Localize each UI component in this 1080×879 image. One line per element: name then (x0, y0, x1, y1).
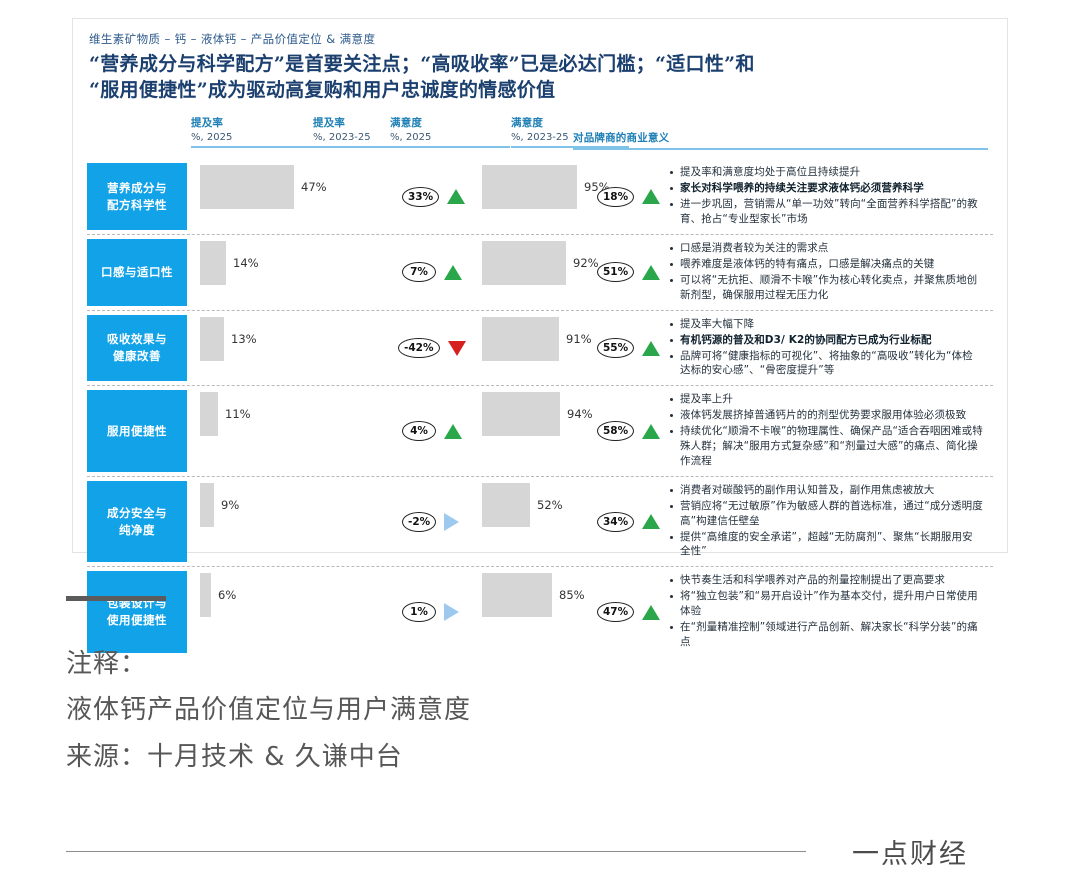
source-text: 来源：十月技术 & 久谦中台 (66, 734, 1016, 780)
slide-card: 维生素矿物质 – 钙 – 液体钙 – 产品价值定位 & 满意度 “营养成分与科学… (72, 18, 1008, 553)
satisfaction-bar (482, 483, 530, 527)
mention-value: 47% (301, 180, 327, 194)
headline-line-2: “服用便捷性”成为驱动高复购和用户忠诚度的情感价值 (89, 77, 993, 103)
mention-delta-badge: -2% (402, 512, 436, 532)
trend-up-icon (642, 341, 660, 356)
list-item: 液体钙发展挤掉普通钙片的的剂型优势要求服用体验必须极致 (669, 408, 983, 423)
mention-bar-group: 13% (200, 317, 257, 361)
column-header-title: 满意度 (390, 115, 510, 130)
insight-list: 消费者对碳酸钙的副作用认知普及，副作用焦虑被放大 营销应将“无过敏原”作为敏感人… (669, 483, 983, 560)
trend-up-icon (642, 424, 660, 439)
trend-up-icon (642, 514, 660, 529)
row-metrics: 11% 4% 94% 58% (187, 386, 657, 476)
table-row[interactable]: 口感与适口性 14% 7% 92% (87, 235, 993, 311)
list-item: 提及率上升 (669, 392, 983, 407)
list-item-strong: 有机钙源的普及和D3/ K2的协同配方已成为行业标配 (680, 334, 932, 346)
satisfaction-delta-badge: 51% (597, 262, 634, 282)
footer-notes: 注释： 液体钙产品价值定位与用户满意度 来源：十月技术 & 久谦中台 (66, 641, 1016, 780)
mention-delta-group: 7% (402, 262, 462, 282)
column-header-business-meaning: 对品牌商的商业意义 (573, 115, 988, 150)
row-label-nutrition: 营养成分与配方科学性 (87, 163, 187, 230)
mention-delta-group: 4% (402, 421, 462, 441)
table-row[interactable]: 服用便捷性 11% 4% 94% (87, 386, 993, 477)
column-header-title: 对品牌商的商业意义 (573, 130, 988, 145)
column-header-underline (390, 146, 510, 148)
row-label-absorption: 吸收效果与健康改善 (87, 315, 187, 382)
satisfaction-delta-group: 55% (597, 338, 660, 358)
slide-page: 维生素矿物质 – 钙 – 液体钙 – 产品价值定位 & 满意度 “营养成分与科学… (0, 0, 1080, 879)
satisfaction-delta-badge: 18% (597, 187, 634, 207)
row-label-convenience: 服用便捷性 (87, 390, 187, 472)
metrics-table: 营养成分与配方科学性 47% 33% 95% (87, 159, 993, 656)
satisfaction-value: 52% (537, 498, 563, 512)
satisfaction-value: 94% (567, 407, 593, 421)
satisfaction-bar-group: 95% (482, 165, 610, 209)
mention-delta-badge: -42% (398, 338, 440, 358)
mention-bar-group: 11% (200, 392, 251, 436)
trend-up-icon (447, 189, 465, 204)
headline-line-1: “营养成分与科学配方”是首要关注点；“高吸收率”已是必达门槛；“适口性”和 (89, 51, 993, 77)
list-item: 提供“高维度的安全承诺”，超越“无防腐剂”、聚焦“长期服用安全性” (669, 530, 983, 560)
mention-bar (200, 165, 294, 209)
list-item: 持续优化“顺滑不卡喉”的物理属性、确保产品“适合吞咽困难或特殊人群；解决“服用方… (669, 424, 983, 469)
note-label: 注释： (66, 641, 1016, 687)
mention-delta-group: 33% (402, 187, 465, 207)
mention-bar-group: 9% (200, 483, 239, 527)
satisfaction-delta-badge: 34% (597, 512, 634, 532)
satisfaction-delta-group: 18% (597, 187, 660, 207)
mention-bar (200, 317, 224, 361)
footer-rule (66, 851, 806, 852)
footer: 注释： 液体钙产品价值定位与用户满意度 来源：十月技术 & 久谦中台 一点财经 (66, 596, 1016, 780)
list-item: 营销应将“无过敏原”作为敏感人群的首选标准，通过“成分透明度高”构建信任壁垒 (669, 499, 983, 529)
row-insights: 消费者对碳酸钙的副作用认知普及，副作用焦虑被放大 营销应将“无过敏原”作为敏感人… (657, 477, 993, 567)
row-metrics: 9% -2% 52% 34% (187, 477, 657, 567)
mention-delta-group: -42% (398, 338, 466, 358)
satisfaction-delta-badge: 58% (597, 421, 634, 441)
breadcrumb: 维生素矿物质 – 钙 – 液体钙 – 产品价值定位 & 满意度 (89, 31, 993, 47)
list-item: 喂养难度是液体钙的特有痛点，口感是解决痛点的关键 (669, 257, 983, 272)
mention-value: 9% (221, 498, 239, 512)
row-metrics: 14% 7% 92% 51% (187, 235, 657, 310)
brand-logo-text: 一点财经 (852, 832, 968, 871)
insight-list: 提及率大幅下降 有机钙源的普及和D3/ K2的协同配方已成为行业标配 品牌可将“… (669, 317, 983, 379)
satisfaction-value: 91% (566, 332, 592, 346)
list-item: 快节奏生活和科学喂养对产品的剂量控制提出了更高要求 (669, 573, 983, 588)
list-item: 可以将“无抗拒、顺滑不卡喉”作为核心转化卖点，并聚焦质地创新剂型，确保服用过程无… (669, 273, 983, 303)
satisfaction-delta-group: 51% (597, 262, 660, 282)
list-item: 品牌可将“健康指标的可视化”、将抽象的“高吸收”转化为“体检达标的安心感”、“骨… (669, 349, 983, 379)
table-row[interactable]: 营养成分与配方科学性 47% 33% 95% (87, 159, 993, 235)
row-insights: 口感是消费者较为关注的需求点 喂养难度是液体钙的特有痛点，口感是解决痛点的关键 … (657, 235, 993, 310)
trend-down-icon (448, 341, 466, 356)
list-item: 消费者对碳酸钙的副作用认知普及，副作用焦虑被放大 (669, 483, 983, 498)
satisfaction-bar-group: 52% (482, 483, 563, 527)
satisfaction-value: 92% (573, 256, 599, 270)
list-item: 提及率大幅下降 (669, 317, 983, 332)
column-header-satisfaction-2025: 满意度 %, 2025 (390, 115, 510, 148)
list-item: 家长对科学喂养的持续关注要求液体钙必须营养科学 (669, 181, 983, 196)
table-row[interactable]: 吸收效果与健康改善 13% -42% 91% (87, 311, 993, 387)
satisfaction-bar (482, 241, 566, 285)
satisfaction-delta-group: 34% (597, 512, 660, 532)
trend-flat-icon (444, 513, 459, 531)
satisfaction-bar-group: 92% (482, 241, 599, 285)
mention-delta-group: -2% (402, 512, 459, 532)
insight-list: 提及率和满意度均处于高位且持续提升 家长对科学喂养的持续关注要求液体钙必须营养科… (669, 165, 983, 227)
footer-brand-row: 一点财经 (66, 832, 1016, 871)
mention-delta-badge: 4% (402, 421, 436, 441)
row-metrics: 13% -42% 91% 55% (187, 311, 657, 386)
satisfaction-bar (482, 317, 559, 361)
list-item: 进一步巩固，营销需从“单一功效”转向“全面营养科学搭配”的教育、抢占“专业型家长… (669, 197, 983, 227)
insight-list: 提及率上升 液体钙发展挤掉普通钙片的的剂型优势要求服用体验必须极致 持续优化“顺… (669, 392, 983, 469)
mention-value: 14% (233, 256, 259, 270)
row-label-taste: 口感与适口性 (87, 239, 187, 306)
trend-up-icon (642, 265, 660, 280)
trend-up-icon (642, 189, 660, 204)
table-row[interactable]: 成分安全与纯净度 9% -2% 52% (87, 477, 993, 568)
mention-bar (200, 483, 214, 527)
mention-value: 13% (231, 332, 257, 346)
satisfaction-bar-group: 94% (482, 392, 593, 436)
insight-list: 口感是消费者较为关注的需求点 喂养难度是液体钙的特有痛点，口感是解决痛点的关键 … (669, 241, 983, 303)
row-metrics: 47% 33% 95% 18% (187, 159, 657, 234)
column-header-underline (573, 148, 988, 150)
satisfaction-delta-group: 58% (597, 421, 660, 441)
mention-delta-badge: 33% (402, 187, 439, 207)
list-item: 提及率和满意度均处于高位且持续提升 (669, 165, 983, 180)
mention-delta-badge: 7% (402, 262, 436, 282)
satisfaction-bar (482, 165, 577, 209)
mention-bar (200, 392, 218, 436)
mention-bar-group: 14% (200, 241, 259, 285)
mention-bar-group: 47% (200, 165, 327, 209)
trend-up-icon (444, 265, 462, 280)
row-insights: 提及率大幅下降 有机钙源的普及和D3/ K2的协同配方已成为行业标配 品牌可将“… (657, 311, 993, 386)
satisfaction-delta-badge: 55% (597, 338, 634, 358)
column-header-sub: %, 2025 (390, 132, 510, 143)
mention-bar (200, 241, 226, 285)
footer-divider-bar (66, 596, 166, 601)
trend-up-icon (444, 424, 462, 439)
satisfaction-bar (482, 392, 560, 436)
mention-value: 11% (225, 407, 251, 421)
list-item-strong: 家长对科学喂养的持续关注要求液体钙必须营养科学 (680, 182, 924, 194)
note-text: 液体钙产品价值定位与用户满意度 (66, 687, 1016, 733)
page-title: “营养成分与科学配方”是首要关注点；“高吸收率”已是必达门槛；“适口性”和 “服… (89, 51, 993, 103)
list-item: 有机钙源的普及和D3/ K2的协同配方已成为行业标配 (669, 333, 983, 348)
satisfaction-bar-group: 91% (482, 317, 592, 361)
row-insights: 提及率上升 液体钙发展挤掉普通钙片的的剂型优势要求服用体验必须极致 持续优化“顺… (657, 386, 993, 476)
column-header-row: 提及率 %, 2025 提及率 %, 2023-25 满意度 %, 2025 满… (87, 115, 993, 157)
row-label-safety: 成分安全与纯净度 (87, 481, 187, 563)
row-insights: 提及率和满意度均处于高位且持续提升 家长对科学喂养的持续关注要求液体钙必须营养科… (657, 159, 993, 234)
list-item: 口感是消费者较为关注的需求点 (669, 241, 983, 256)
